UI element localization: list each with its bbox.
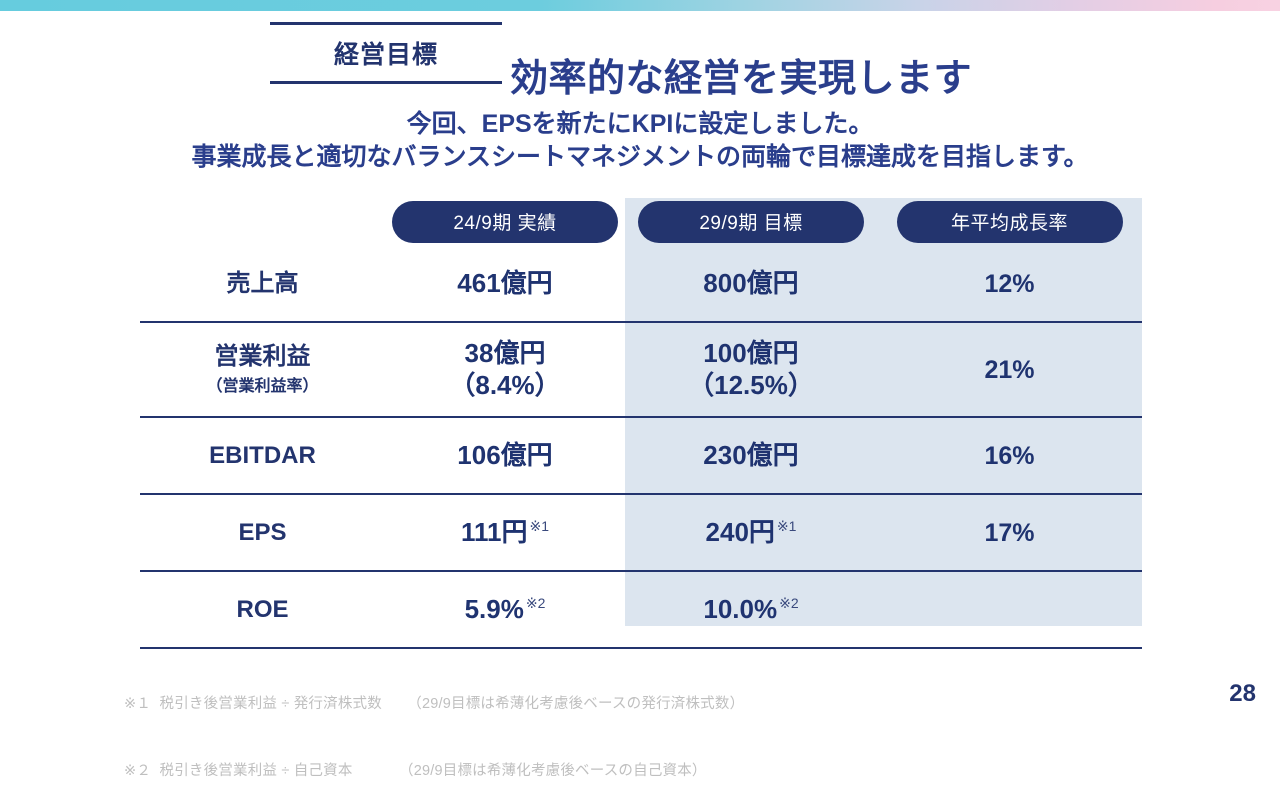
row-target-cell: 100億円 （12.5%）: [625, 338, 877, 400]
row-cagr-cell: 16%: [877, 441, 1142, 471]
row-cagr-cell: 17%: [877, 518, 1142, 548]
row-target-subvalue: （12.5%）: [688, 370, 814, 401]
row-cagr-value: 16%: [984, 441, 1034, 471]
subtitle-line-2: 事業成長と適切なバランスシートマネジメントの両輪で目標達成を目指します。: [0, 141, 1280, 174]
row-metric-cell: EPS: [140, 519, 385, 547]
row-actual-subvalue: （8.4%）: [449, 370, 560, 401]
row-target-cell: 10.0%※2: [625, 594, 877, 625]
row-target-cell: 800億円: [625, 268, 877, 299]
row-target-value: 800億円: [703, 268, 798, 299]
row-cagr-cell: 12%: [877, 269, 1142, 299]
table-row: EPS 111円※1 240円※1 17%: [140, 495, 1142, 572]
footnote-1: ※１ 税引き後営業利益 ÷ 発行済株式数 （29/9目標は希薄化考慮後ベースの発…: [124, 693, 744, 715]
row-metric-cell: 営業利益 （営業利益率）: [140, 343, 385, 397]
header-cell-actual: 24/9期 実績: [385, 201, 625, 243]
page-number: 28: [1229, 680, 1256, 708]
row-target-value: 100億円: [703, 338, 798, 369]
slide-header: 経営目標 効率的な経営を実現します: [0, 22, 1280, 86]
footnote-marker: ※1: [529, 518, 549, 534]
row-target-cell: 230億円: [625, 440, 877, 471]
row-actual-value: 5.9%※2: [465, 594, 546, 625]
top-gradient-bar: [0, 0, 1280, 11]
row-actual-value: 38億円: [465, 338, 546, 369]
table-header-row: 24/9期 実績 29/9期 目標 年平均成長率: [140, 198, 1142, 246]
row-actual-cell: 106億円: [385, 440, 625, 471]
row-actual-value: 106億円: [457, 440, 552, 471]
row-actual-cell: 111円※1: [385, 517, 625, 548]
footnote-marker: ※2: [526, 595, 546, 611]
row-metric-cell: ROE: [140, 596, 385, 624]
row-metric-cell: 売上高: [140, 270, 385, 298]
kpi-table-grid: 24/9期 実績 29/9期 目標 年平均成長率 売上高 461億円 800億円…: [140, 198, 1142, 649]
row-cagr-value: 12%: [984, 269, 1034, 299]
row-actual-cell: 461億円: [385, 268, 625, 299]
row-metric-label: EPS: [238, 519, 286, 547]
row-target-value: 230億円: [703, 440, 798, 471]
section-eyebrow-label: 経営目標: [334, 35, 438, 71]
footnote-marker: ※2: [779, 595, 799, 611]
header-cell-target: 29/9期 目標: [625, 201, 877, 243]
footnote-2: ※２ 税引き後営業利益 ÷ 自己資本 （29/9目標は希薄化考慮後ベースの自己資…: [124, 760, 744, 782]
row-target-value-text: 240円: [706, 517, 775, 547]
table-row: 営業利益 （営業利益率） 38億円 （8.4%） 100億円 （12.5%） 2…: [140, 323, 1142, 418]
kpi-table: 24/9期 実績 29/9期 目標 年平均成長率 売上高 461億円 800億円…: [140, 198, 1142, 630]
row-target-value: 10.0%※2: [703, 594, 798, 625]
row-cagr-value: 21%: [984, 355, 1034, 385]
table-row: ROE 5.9%※2 10.0%※2: [140, 572, 1142, 649]
row-metric-label: EBITDAR: [209, 442, 316, 470]
row-target-value: 240円※1: [706, 517, 797, 548]
row-cagr-value: 17%: [984, 518, 1034, 548]
row-actual-value-text: 5.9%: [465, 594, 524, 624]
row-metric-label: 売上高: [227, 270, 299, 298]
row-cagr-cell: 21%: [877, 355, 1142, 385]
header-pill-actual: 24/9期 実績: [392, 201, 618, 243]
table-row: EBITDAR 106億円 230億円 16%: [140, 418, 1142, 495]
row-actual-value: 461億円: [457, 268, 552, 299]
section-eyebrow: 経営目標: [270, 22, 502, 84]
row-actual-cell: 38億円 （8.4%）: [385, 338, 625, 400]
row-actual-cell: 5.9%※2: [385, 594, 625, 625]
row-target-value-text: 10.0%: [703, 594, 777, 624]
table-row: 売上高 461億円 800億円 12%: [140, 246, 1142, 323]
footnotes-block: ※１ 税引き後営業利益 ÷ 発行済株式数 （29/9目標は希薄化考慮後ベースの発…: [124, 648, 744, 805]
page-title: 効率的な経営を実現します: [510, 47, 972, 102]
subtitle-block: 今回、EPSを新たにKPIに設定しました。 事業成長と適切なバランスシートマネジ…: [0, 108, 1280, 175]
row-metric-sublabel: （営業利益率）: [206, 372, 318, 396]
row-actual-value-text: 111円: [461, 517, 528, 547]
row-metric-cell: EBITDAR: [140, 442, 385, 470]
subtitle-line-1: 今回、EPSを新たにKPIに設定しました。: [0, 108, 1280, 141]
row-target-cell: 240円※1: [625, 517, 877, 548]
header-pill-target: 29/9期 目標: [638, 201, 864, 243]
row-metric-label: 営業利益: [215, 343, 311, 371]
footnote-marker: ※1: [777, 518, 797, 534]
header-pill-cagr: 年平均成長率: [897, 201, 1123, 243]
row-metric-label: ROE: [236, 596, 288, 624]
row-actual-value: 111円※1: [461, 517, 549, 548]
header-cell-cagr: 年平均成長率: [877, 201, 1142, 243]
